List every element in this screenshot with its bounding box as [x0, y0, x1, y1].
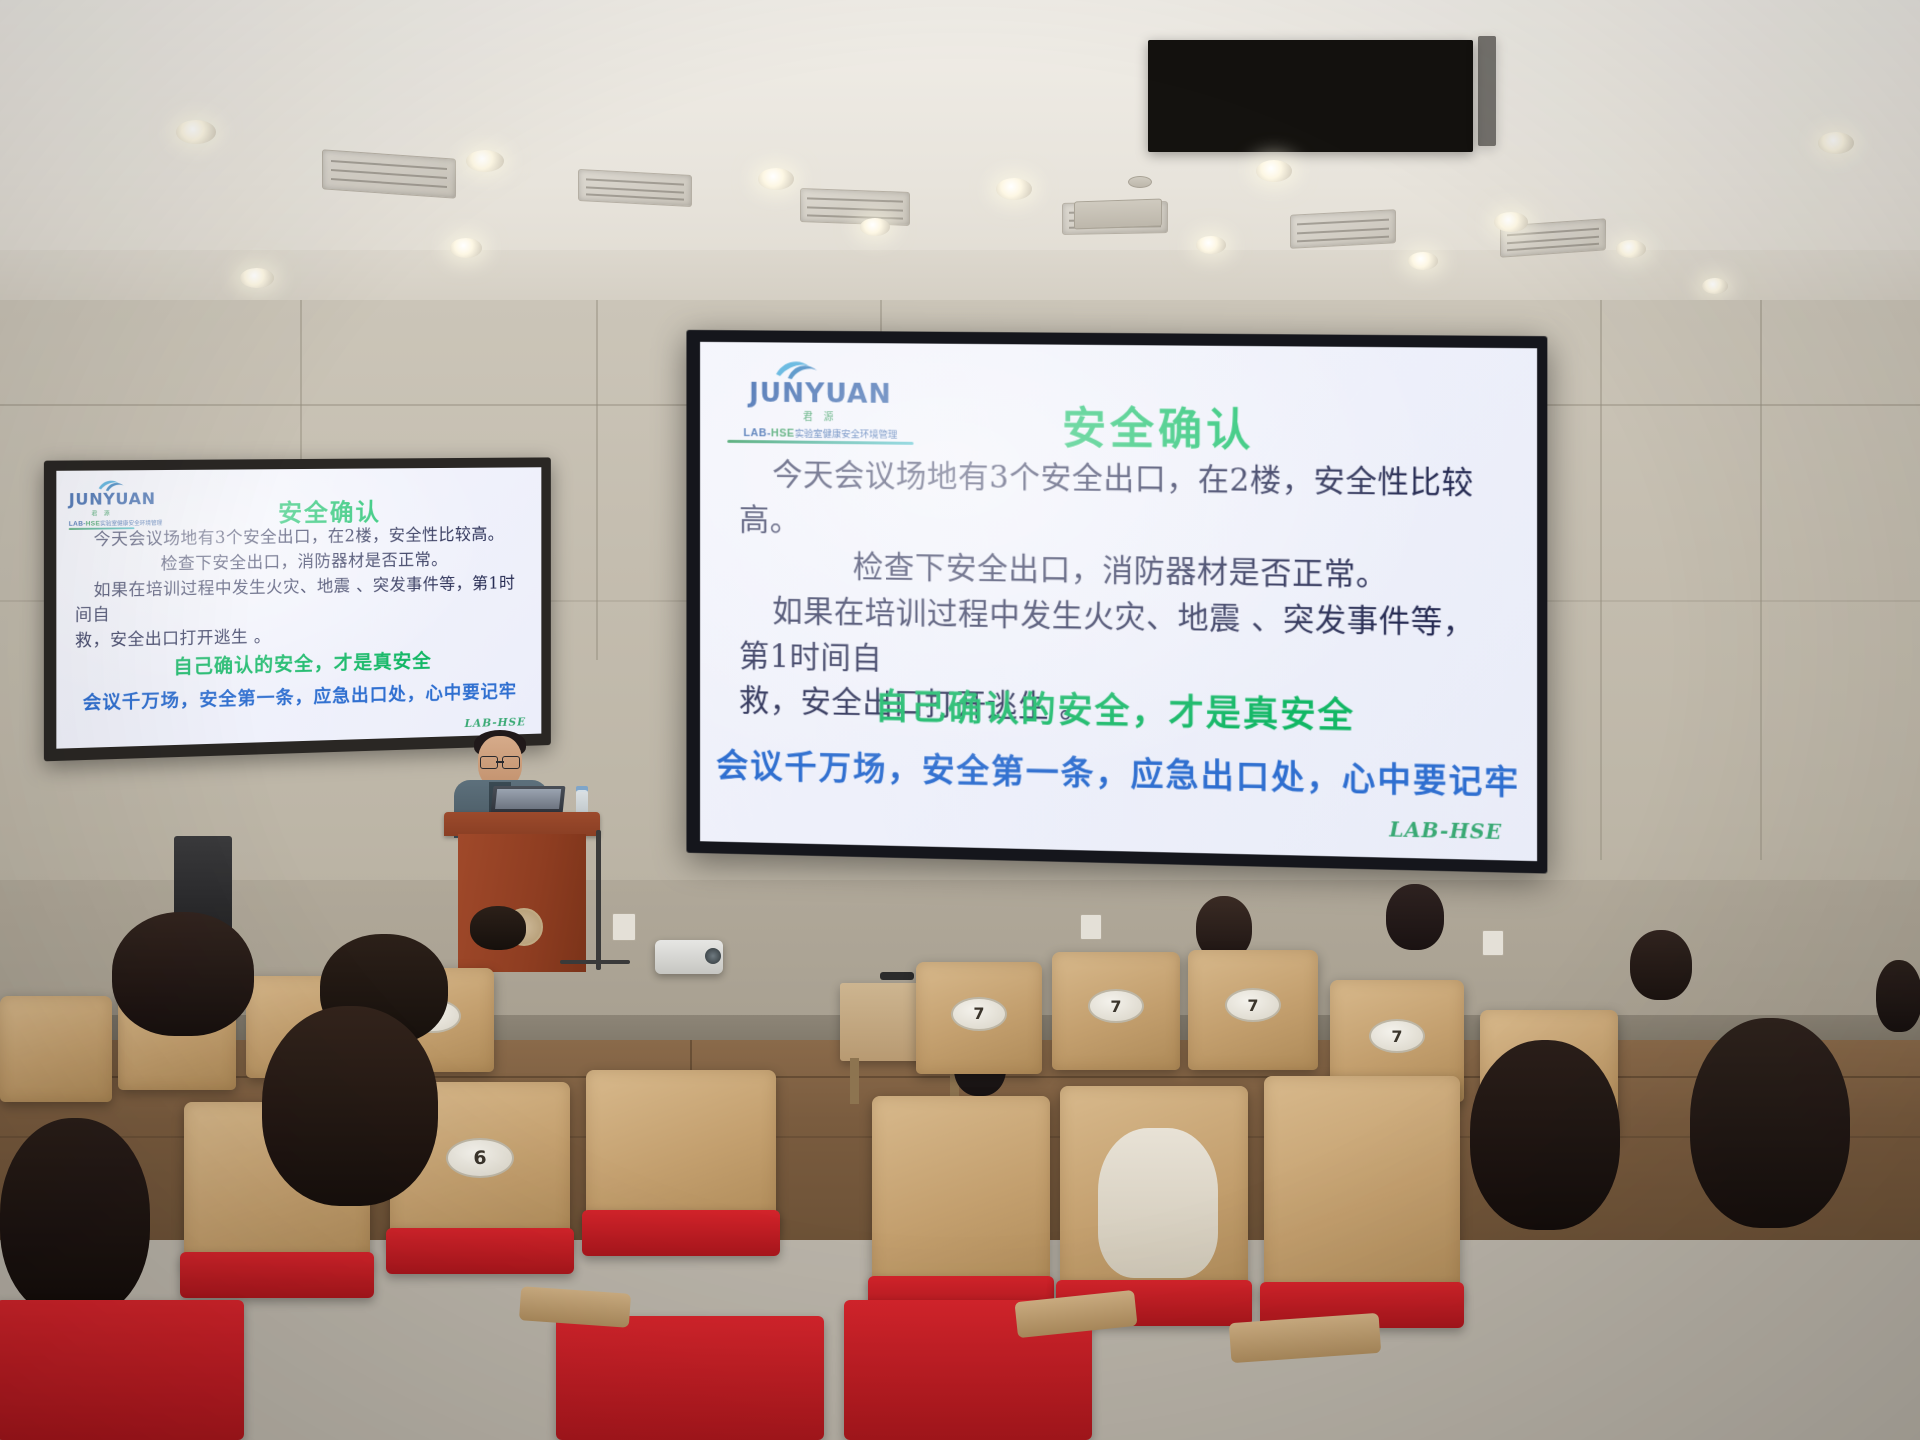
ceiling-downlight — [996, 178, 1032, 200]
ceiling-downlight — [1196, 236, 1226, 254]
tv-slide-slogan-blue: 会议千万场，安全第一条，应急出口处，心中要记牢 — [56, 677, 541, 716]
wall-socket — [612, 913, 636, 941]
audience-head — [262, 1006, 438, 1206]
chair-back — [586, 1070, 776, 1230]
audience-head — [1876, 960, 1920, 1032]
chair-cushion — [556, 1316, 824, 1440]
chair-back — [1264, 1076, 1460, 1302]
projection-screen-frame: JUNYUAN 君 源 LAB-HSE实验室健康安全环境管理 安全确认 今天会议… — [686, 330, 1547, 874]
chair-cushion — [386, 1228, 574, 1274]
laptop[interactable] — [491, 786, 566, 814]
audience-head — [470, 906, 526, 950]
chair-cushion — [180, 1252, 374, 1298]
seat-number-badge: 7 — [1369, 1019, 1425, 1053]
ac-vent — [1290, 209, 1396, 249]
tv-monitor-screen[interactable]: JUNYUAN 君 源 LAB-HSE实验室健康安全环境管理 安全确认 今天会议… — [56, 467, 541, 748]
audience-chair[interactable]: 7 — [1052, 952, 1180, 1070]
audience-chair[interactable] — [0, 996, 112, 1102]
seat-number-badge: 7 — [1088, 989, 1144, 1023]
ac-vent — [800, 188, 910, 226]
glasses-icon — [479, 756, 521, 767]
ceiling-downlight — [860, 218, 890, 236]
audience-chair[interactable] — [872, 1096, 1050, 1296]
seat-number-badge: 6 — [446, 1138, 514, 1178]
audience-chair[interactable] — [586, 1070, 776, 1230]
microphone — [880, 972, 914, 980]
tv-slide-body: 今天会议场地有3个安全出口，在2楼，安全性比较高。 检查下安全出口，消防器材是否… — [75, 522, 528, 654]
wall-seam — [1600, 300, 1602, 860]
ac-vent — [578, 169, 692, 207]
audience-chair[interactable] — [0, 1300, 240, 1440]
audience-chair[interactable] — [560, 1316, 820, 1440]
ceiling-downlight — [466, 150, 504, 172]
ceiling-speaker — [1074, 198, 1162, 229]
ceiling-downlight — [1408, 252, 1438, 270]
ceiling-downlight — [1702, 278, 1728, 294]
slide-watermark: LAB-HSE — [1389, 817, 1502, 844]
cable — [560, 960, 630, 964]
audience-head — [1470, 1040, 1620, 1230]
ceiling-black-panel — [1148, 40, 1473, 152]
audience-head — [0, 1118, 150, 1318]
projector-lens-icon — [705, 948, 721, 964]
chair-cushion — [0, 1300, 244, 1440]
tv-monitor-frame: JUNYUAN 君 源 LAB-HSE实验室健康安全环境管理 安全确认 今天会议… — [44, 457, 551, 761]
side-table-leg — [850, 1058, 859, 1104]
audience-chair[interactable] — [1264, 1076, 1460, 1302]
ceiling-downlight — [176, 120, 216, 144]
audience-chair[interactable]: 7 — [916, 962, 1042, 1074]
podium-top — [444, 812, 600, 836]
projector — [655, 940, 723, 974]
audience-head — [1690, 1018, 1850, 1228]
slide-slogan-blue: 会议千万场，安全第一条，应急出口处，心中要记牢 — [700, 739, 1537, 805]
conference-hall-scene: JUNYUAN 君 源 LAB-HSE实验室健康安全环境管理 安全确认 今天会议… — [0, 0, 1920, 1440]
wall-socket — [1482, 930, 1504, 956]
tv-wave-icon — [98, 477, 125, 491]
audience-head — [1098, 1128, 1218, 1278]
seat-number-badge: 7 — [951, 997, 1007, 1031]
chair-back — [872, 1096, 1050, 1296]
slide-title: 安全确认 — [700, 389, 1537, 462]
ceiling-downlight — [240, 268, 274, 288]
slide-body-line-1: 今天会议场地有3个安全出口，在2楼，安全性比较高。 — [739, 453, 1506, 555]
cable — [596, 830, 601, 970]
smoke-detector — [1128, 176, 1152, 188]
podium — [444, 812, 600, 972]
audience-head — [1630, 930, 1692, 1000]
wall-seam — [596, 300, 598, 660]
tv-slide-watermark: LAB-HSE — [465, 715, 527, 730]
chair-back — [0, 996, 112, 1102]
ceiling-downlight — [1616, 240, 1646, 258]
audience-head — [1386, 884, 1444, 950]
seat-number-badge: 7 — [1225, 988, 1281, 1022]
wall-socket — [1080, 914, 1102, 940]
chair-armrest — [519, 1286, 631, 1328]
ceiling-downlight — [758, 168, 794, 190]
ceiling-downlight — [1494, 212, 1528, 232]
projection-screen[interactable]: JUNYUAN 君 源 LAB-HSE实验室健康安全环境管理 安全确认 今天会议… — [700, 342, 1537, 861]
podium-body — [458, 834, 586, 972]
laptop-screen — [495, 789, 561, 809]
wall-seam — [1760, 300, 1762, 860]
audience-chair[interactable]: 7 — [1188, 950, 1318, 1070]
ceiling-downlight — [450, 238, 482, 258]
chair-cushion — [582, 1210, 780, 1256]
ceiling-black-panel-2 — [1478, 36, 1496, 146]
wave-icon — [774, 356, 819, 380]
ceiling-downlight — [1818, 132, 1854, 154]
audience-head — [112, 912, 254, 1036]
ceiling-downlight — [1256, 160, 1292, 182]
